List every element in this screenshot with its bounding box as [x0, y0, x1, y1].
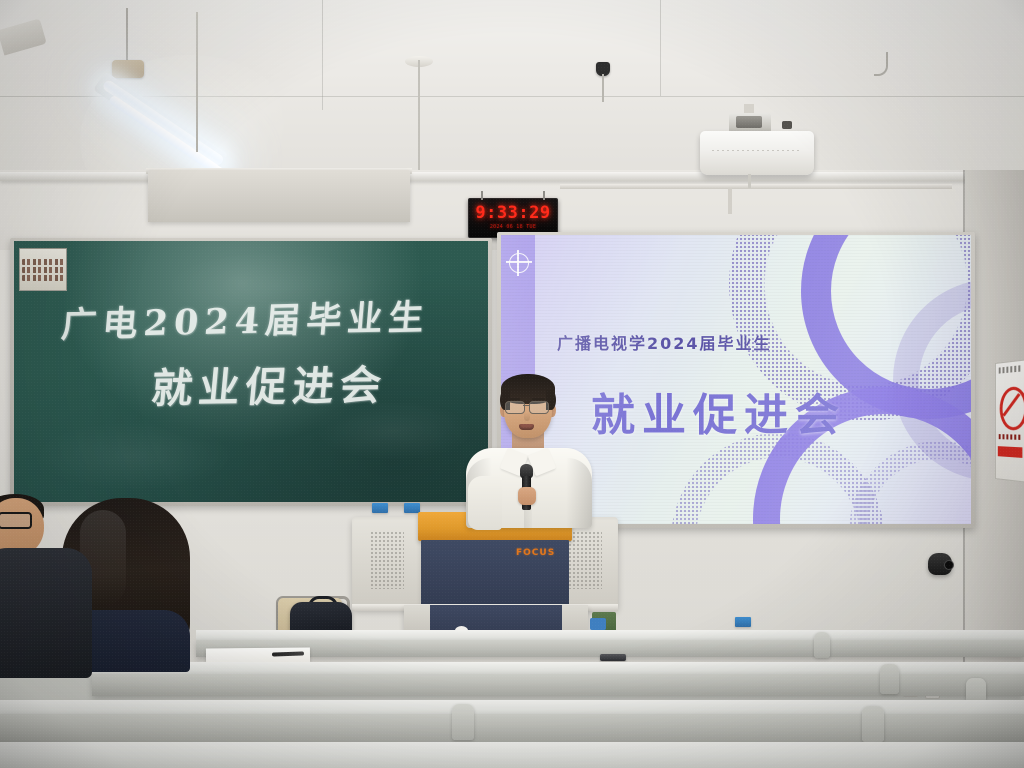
- slide-title: 就业促进会: [591, 379, 846, 443]
- ceiling-seam: [322, 0, 323, 110]
- blackboard-line-2: 就业促进会: [149, 351, 390, 414]
- glasses-icon: [505, 401, 525, 414]
- presenter-hand: [518, 487, 536, 505]
- glasses-icon: [0, 512, 32, 529]
- glasses-icon: [529, 401, 549, 414]
- presenter-shirt-shading: [566, 458, 592, 528]
- desk-end-cap: [880, 664, 899, 694]
- clock-hanger: [481, 191, 483, 200]
- presenter-mouth: [519, 424, 534, 430]
- clock-hanger: [543, 191, 545, 200]
- prohibition-circle-icon: [1000, 386, 1024, 431]
- podium-speaker-grille: [568, 531, 602, 589]
- clock-time: 9:33:29: [475, 205, 550, 222]
- ceiling-projector: [700, 131, 814, 175]
- slide-subtitle: 广播电视学2024届毕业生: [557, 330, 772, 354]
- note-text-line: [22, 267, 64, 273]
- ceiling-camera-stem: [602, 74, 604, 102]
- podium-speaker-grille: [370, 531, 404, 589]
- soffit-bulkhead: [148, 170, 410, 222]
- podium-left-wing: [352, 517, 422, 609]
- hanging-cable: [418, 60, 420, 180]
- crosshair-target-icon: [509, 253, 529, 273]
- mobile-phone: [600, 654, 626, 661]
- note-text-line: [22, 259, 64, 265]
- clock-date: 2024 06 18 TUE: [490, 224, 536, 231]
- presenter-eyebrow: [507, 398, 520, 400]
- ceiling-seam: [0, 96, 1024, 97]
- desk-end-cap: [452, 704, 474, 740]
- no-smoking-prohibition-sign: [995, 359, 1024, 482]
- presenter-eyebrow: [532, 398, 545, 400]
- lamp-mount-cap: [112, 60, 144, 78]
- blue-card-item: [372, 503, 388, 513]
- desk-row-surface: [0, 742, 1024, 768]
- hanging-cable: [196, 12, 198, 152]
- blackboard-paper-note: [19, 248, 67, 291]
- blue-object: [590, 618, 606, 630]
- blue-card-item: [735, 617, 751, 627]
- glasses-bridge: [523, 405, 529, 406]
- note-text-line: [22, 275, 64, 281]
- sign-red-bar: [998, 446, 1023, 458]
- sign-body-text: [999, 434, 1022, 440]
- ceiling: [0, 0, 1024, 176]
- podium-brand-logo: FOCUS: [516, 548, 555, 558]
- desk-end-cap: [862, 706, 884, 742]
- presenter-arm: [468, 476, 502, 530]
- desk-end-cap: [814, 632, 830, 658]
- blue-card-item: [404, 503, 420, 513]
- wall-conduit: [560, 184, 952, 189]
- projector-lens-icon: [736, 116, 762, 128]
- wall-camera-lens: [944, 560, 954, 570]
- projector-cable: [748, 174, 751, 188]
- student-body: [0, 548, 92, 678]
- podium-base-panel: [430, 605, 562, 631]
- projector-knob: [782, 121, 792, 129]
- sign-heading-text: [999, 365, 1022, 373]
- ceiling-seam: [660, 0, 661, 96]
- lamp-rod: [126, 8, 128, 66]
- wall-conduit-drop: [728, 188, 732, 214]
- presenter-nose: [524, 412, 530, 421]
- classroom-photo: 9:33:29 2024 06 18 TUE 广电2024届毕业生 就业促进会 …: [0, 0, 1024, 768]
- projector-vent: [712, 150, 802, 151]
- blackboard-line-1: 广电2024届毕业生: [59, 289, 431, 348]
- chalk-smudge: [34, 421, 234, 491]
